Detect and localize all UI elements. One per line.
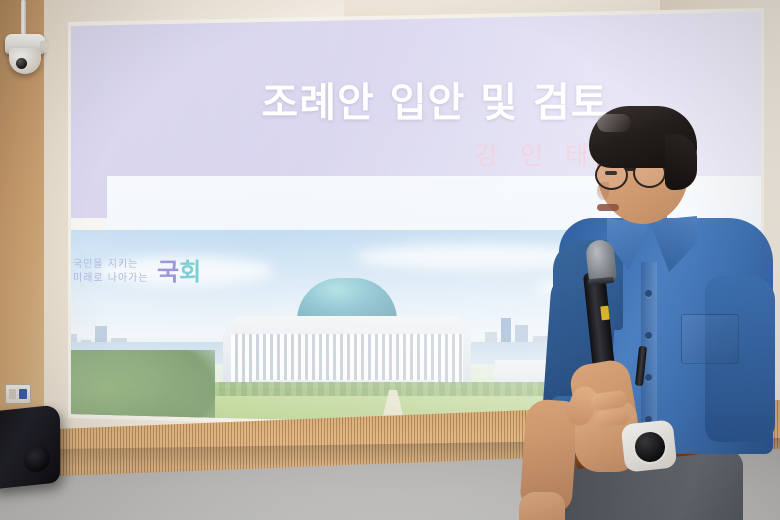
national-assembly-logo: 국민을 지키는 미래로 나아가는 국회 — [73, 254, 253, 300]
eyeglasses-bridge — [626, 168, 635, 171]
logo-tagline: 국민을 지키는 미래로 나아가는 — [73, 258, 149, 286]
logo-tagline-line1: 국민을 지키는 — [73, 258, 149, 272]
shirt-button — [645, 290, 652, 297]
logo-wordmark: 국회 — [157, 252, 201, 287]
shirt-button — [645, 374, 652, 381]
floor-speaker — [0, 404, 60, 489]
shirt-chest-pocket — [681, 314, 739, 364]
presenter-hair-highlight — [597, 114, 631, 132]
shirt-button — [645, 332, 652, 339]
presenter-hair-side — [665, 134, 697, 190]
photo-assembly-columns — [231, 334, 463, 384]
logo-tagline-line2: 미래로 나아가는 — [73, 272, 149, 286]
presenter — [545, 100, 780, 520]
presentation-scene: 국민을 지키는 미래로 나아가는 국회 조례안 입안 및 검토 강 인 태 — [0, 0, 780, 520]
microphone-label — [600, 306, 609, 321]
presenter-mouth — [597, 204, 619, 211]
presenter-left-hand — [519, 492, 565, 520]
